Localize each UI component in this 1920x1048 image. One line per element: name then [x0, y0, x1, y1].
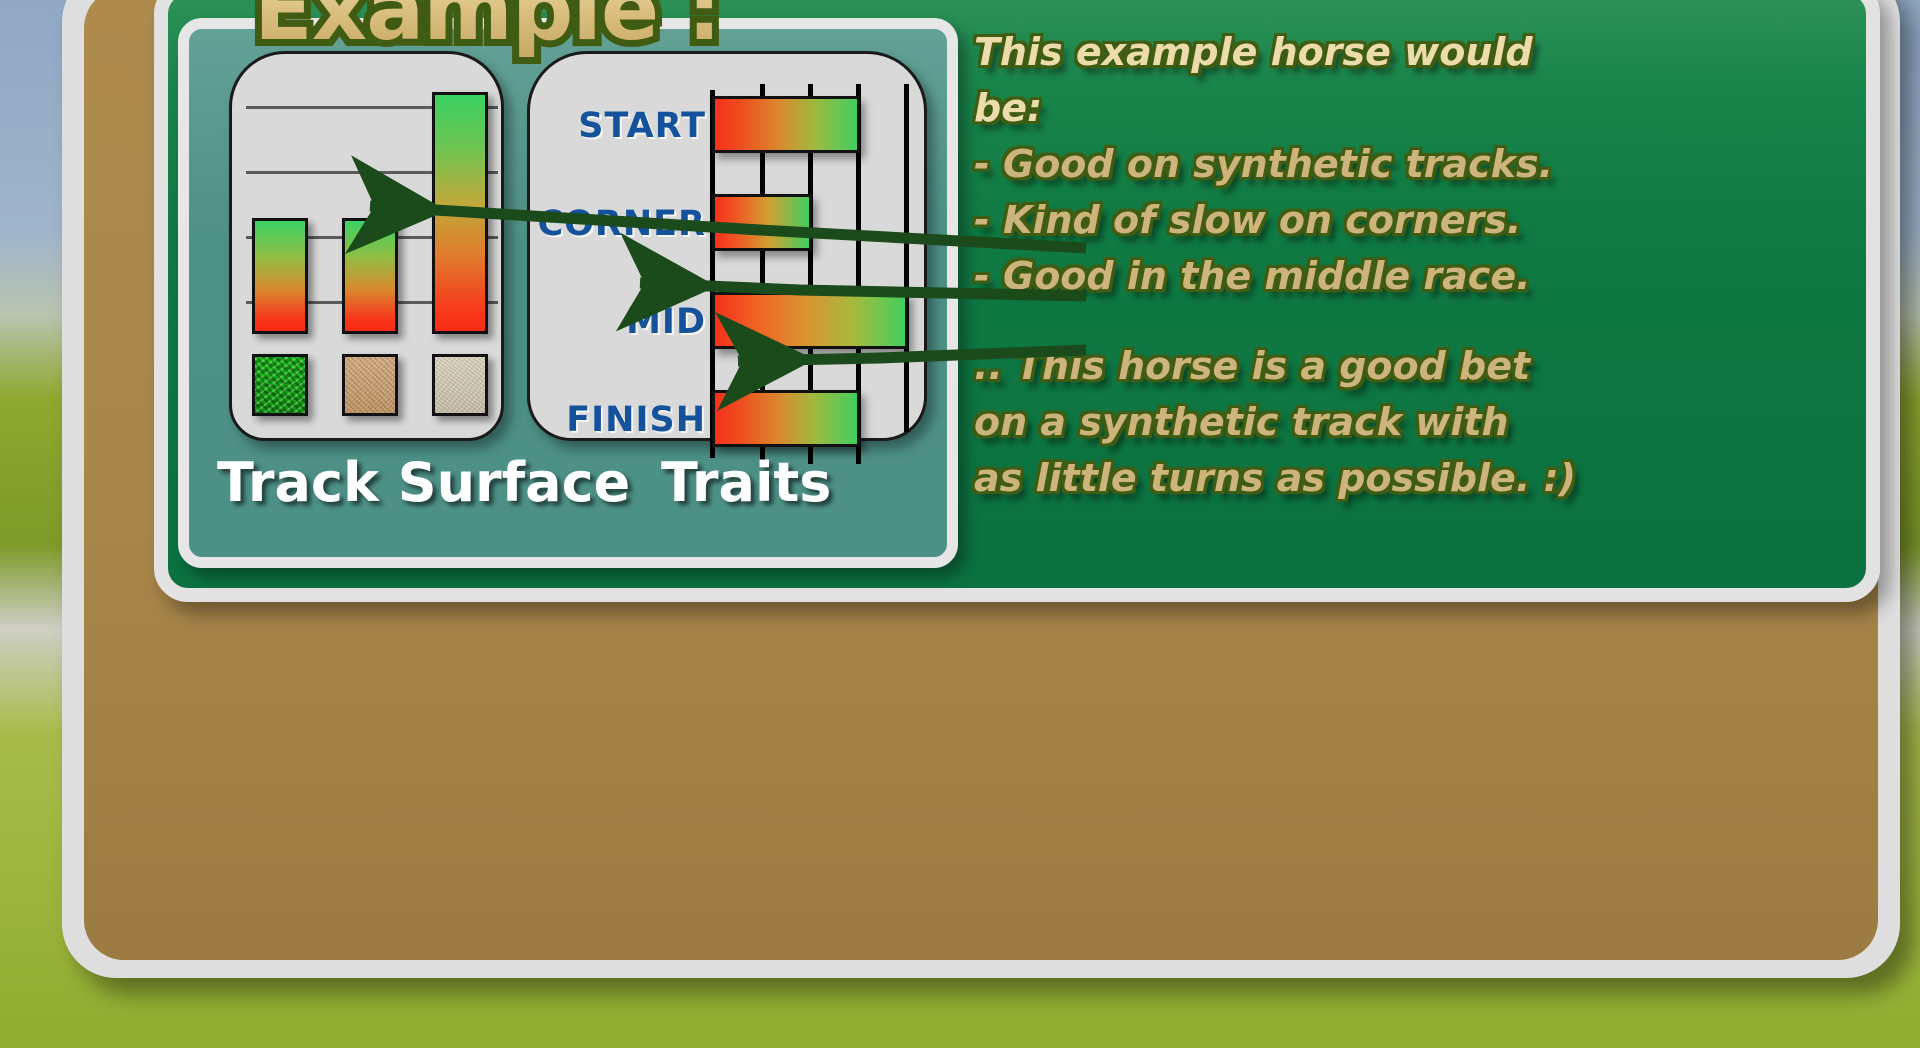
- traits-chart: START CORNER MID FINISH: [527, 51, 927, 441]
- trait-gridline: [904, 84, 909, 432]
- intro-line-2: be:: [974, 80, 1674, 136]
- trait-label-finish: FINISH: [516, 400, 706, 440]
- billboard-post-left: [0, 0, 34, 120]
- charts-card: START CORNER MID FINISH: [178, 18, 958, 568]
- bullet-2: - Kind of slow on corners.: [974, 192, 1674, 248]
- intro-line-1: This example horse would: [974, 24, 1674, 80]
- bullet-3: - Good in the middle race.: [974, 248, 1674, 304]
- bar-grass: [252, 218, 308, 334]
- finish-trait-bar: [712, 390, 860, 447]
- sign-green-panel: Example : Example :: [154, 0, 1880, 602]
- billboard-post-right: [0, 120, 40, 210]
- dirt-swatch: [342, 354, 398, 416]
- trait-label-start: START: [516, 106, 706, 146]
- corner-trait-bar: [712, 194, 812, 251]
- track-surface-plot-area: [246, 92, 492, 334]
- trait-label-corner: CORNER: [516, 204, 706, 244]
- track-surface-chart: [229, 51, 504, 441]
- billboard-frame: Example : Example :: [62, 0, 1900, 978]
- mid-trait-bar: [712, 292, 908, 349]
- bar-dirt: [342, 218, 398, 334]
- track-surface-caption: Track Surface: [217, 451, 630, 514]
- traits-caption: Traits: [661, 451, 831, 514]
- synthetic-swatch: [432, 354, 488, 416]
- traits-plot-area: START CORNER MID FINISH: [530, 54, 924, 438]
- start-trait-bar: [712, 96, 860, 153]
- text-spacer: [974, 304, 1674, 338]
- bullet-1: - Good on synthetic tracks.: [974, 136, 1674, 192]
- trait-label-mid: MID: [516, 302, 706, 342]
- explanation-text: This example horse would be: - Good on s…: [974, 24, 1674, 506]
- bar-synthetic: [432, 92, 488, 334]
- grass-swatch: [252, 354, 308, 416]
- summary-line-2: on a synthetic track with: [974, 394, 1674, 450]
- page-title: Example :: [254, 0, 721, 60]
- summary-line-1: .. This horse is a good bet: [974, 338, 1674, 394]
- summary-line-3: as little turns as possible. :): [974, 450, 1674, 506]
